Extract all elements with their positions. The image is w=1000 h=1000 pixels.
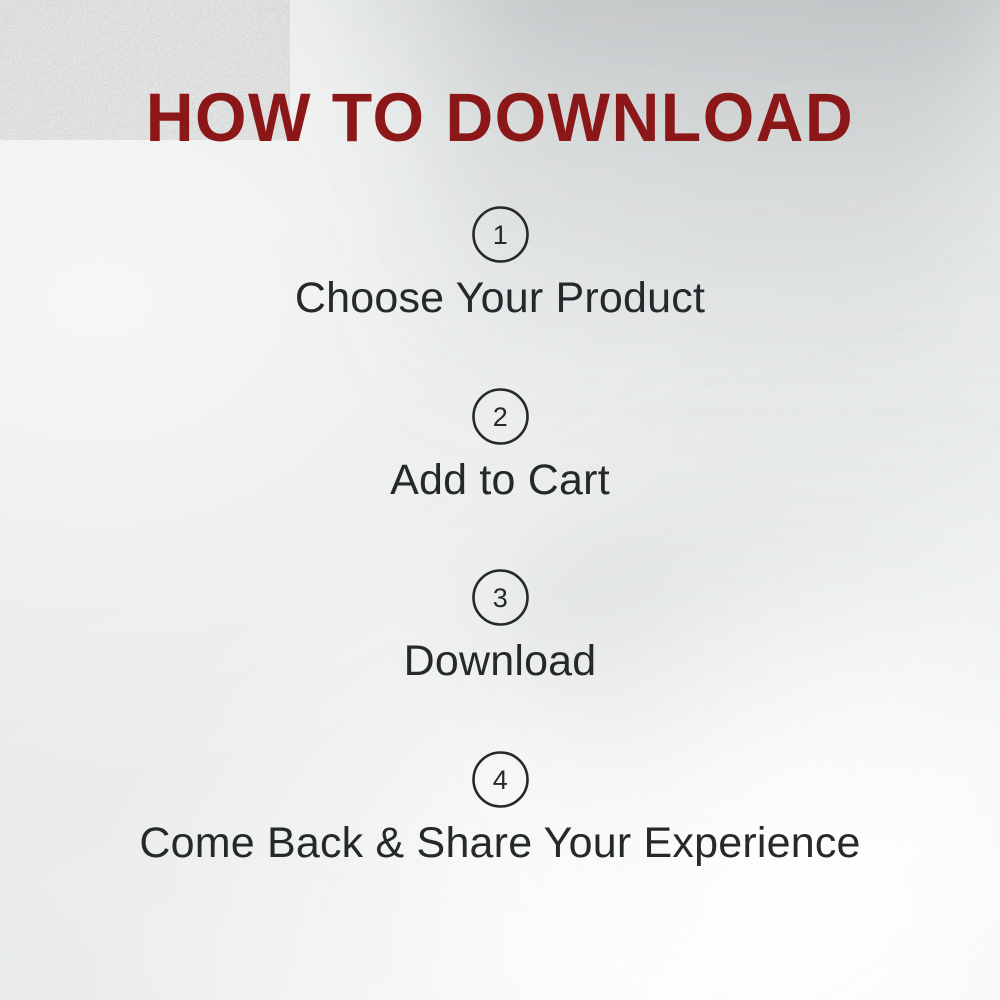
step-number: 2 (492, 402, 508, 432)
step-item: 4 Come Back & Share Your Experience (0, 751, 1000, 867)
step-label: Add to Cart (0, 458, 1000, 504)
step-number-badge-icon: 4 (472, 751, 529, 808)
poster-content: HOW TO DOWNLOAD 1 Choose Your Product 2 … (0, 0, 1000, 1000)
how-to-download-poster: HOW TO DOWNLOAD 1 Choose Your Product 2 … (0, 0, 1000, 1000)
step-item: 3 Download (0, 569, 1000, 685)
steps-list: 1 Choose Your Product 2 Add to Cart 3 Do… (0, 206, 1000, 866)
step-number: 1 (492, 220, 508, 250)
step-number-badge-icon: 1 (472, 206, 529, 263)
step-label: Come Back & Share Your Experience (0, 821, 1000, 867)
step-item: 2 Add to Cart (0, 388, 1000, 504)
step-label: Choose Your Product (0, 276, 1000, 322)
step-item: 1 Choose Your Product (0, 206, 1000, 322)
step-number-badge-icon: 2 (472, 388, 529, 445)
page-title: HOW TO DOWNLOAD (20, 83, 980, 152)
step-number-badge-icon: 3 (472, 569, 529, 626)
step-number: 3 (492, 583, 508, 613)
step-number: 4 (492, 765, 508, 795)
step-label: Download (0, 639, 1000, 685)
